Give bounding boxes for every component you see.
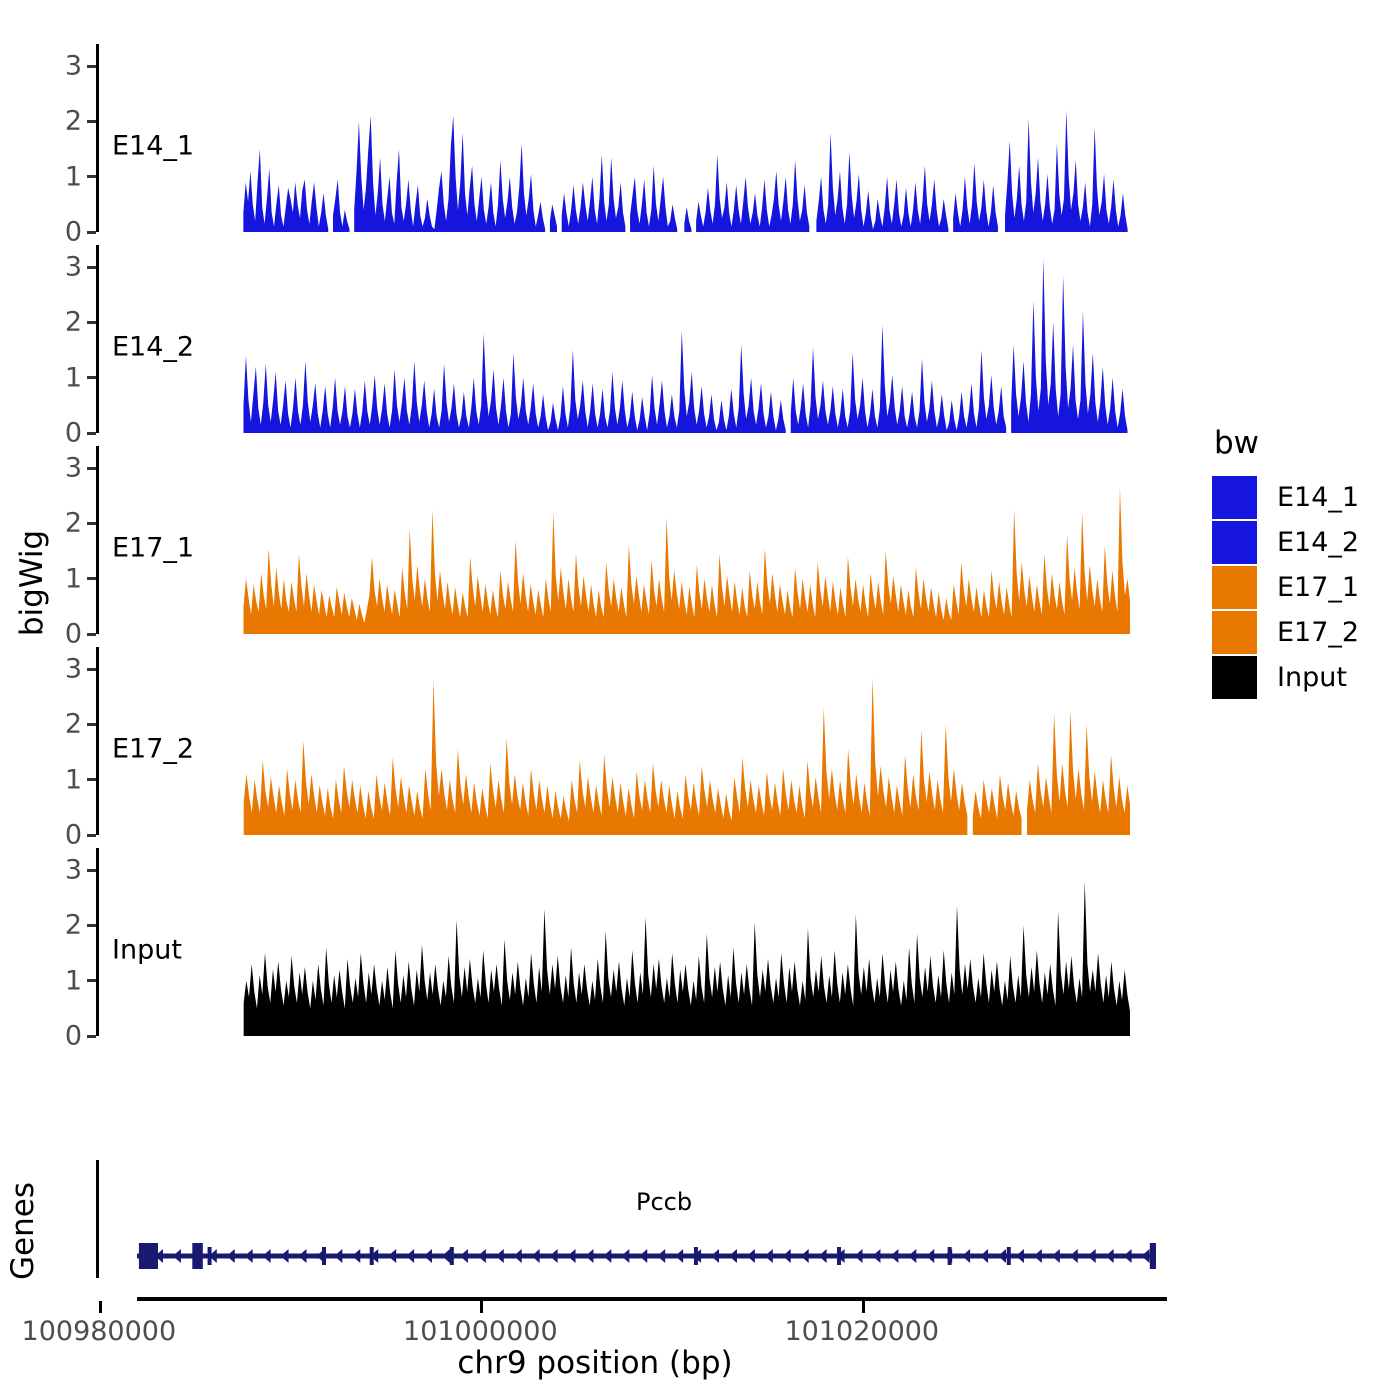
y-tick-label-e17_1-0: 0 [65,621,82,648]
y-tick-e14_1-0 [87,231,96,234]
y-tick-label-e17_2-2: 2 [65,711,82,738]
signal-area-e14_2[interactable] [99,245,1130,433]
gene-exon-block [694,1247,698,1265]
y-tick-label-e17_2-3: 3 [65,656,82,683]
gene-exon-block [192,1243,202,1269]
gene-strand-arrow-icon [1141,1249,1149,1263]
gene-strand-arrow-icon [298,1249,306,1263]
gene-strand-arrow-icon [1088,1249,1096,1263]
y-tick-label-input-1: 1 [65,967,82,994]
gene-strand-arrow-icon [227,1249,235,1263]
y-tick-input-3 [87,869,96,872]
gene-strand-arrow-icon [675,1249,683,1263]
y-tick-e17_2-1 [87,778,96,781]
y-tick-label-e17_1-2: 2 [65,510,82,537]
gene-strand-arrow-icon [890,1249,898,1263]
track-panel-input: 0123Input [96,848,1127,1036]
gene-strand-arrow-icon [442,1249,450,1263]
gene-strand-arrow-icon [334,1249,342,1263]
x-axis-title: chr9 position (bp) [0,1345,1190,1381]
gene-strand-arrow-icon [962,1249,970,1263]
legend-label-input: Input [1277,662,1347,693]
legend: bw E14_1E14_2E17_1E17_2Input [1212,425,1392,700]
y-tick-label-e14_1-0: 0 [65,219,82,246]
gene-strand-arrow-icon [281,1249,289,1263]
x-tick-101000000 [480,1301,483,1313]
y-tick-label-e14_2-0: 0 [65,420,82,447]
signal-path-e14_2 [243,259,1127,433]
y-tick-label-e14_2-2: 2 [65,309,82,336]
x-tick-label-101020000: 101020000 [785,1316,940,1347]
y-axis-title-bigwig: bigWig [14,513,50,653]
y-tick-e17_2-3 [87,668,96,671]
gene-strand-arrow-icon [872,1249,880,1263]
y-tick-input-1 [87,979,96,982]
y-tick-input-0 [87,1035,96,1038]
y-tick-label-e14_2-1: 1 [65,364,82,391]
y-tick-e14_1-3 [87,65,96,68]
legend-label-e17_1: E17_1 [1277,572,1359,603]
y-tick-e17_1-0 [87,633,96,636]
legend-swatch-input [1212,656,1257,699]
gene-strand-arrow-icon [1070,1249,1078,1263]
gene-strand-arrow-icon [603,1249,611,1263]
gene-exon-block [322,1247,326,1265]
gene-strand-arrow-icon [550,1249,558,1263]
gene-strand-arrow-icon [424,1249,432,1263]
gene-strand-arrow-icon [1106,1249,1114,1263]
gene-strand-arrow-icon [173,1249,181,1263]
signal-path-e17_2 [244,677,1130,835]
y-tick-e17_1-1 [87,577,96,580]
gene-strand-arrow-icon [621,1249,629,1263]
track-panel-e14_2: 0123E14_2 [96,245,1127,433]
gene-strand-arrow-icon [388,1249,396,1263]
gene-exon-block [208,1247,212,1265]
gene-strand-arrow-icon [657,1249,665,1263]
legend-item-e14_2[interactable]: E14_2 [1212,520,1392,565]
y-tick-e14_1-1 [87,175,96,178]
y-tick-e14_2-3 [87,266,96,269]
track-panel-e17_2: 0123E17_2 [96,647,1127,835]
gene-strand-arrow-icon [585,1249,593,1263]
y-tick-e14_2-0 [87,432,96,435]
gene-strand-arrow-icon [801,1249,809,1263]
legend-swatch-e17_2 [1212,611,1257,654]
legend-label-e14_2: E14_2 [1277,527,1359,558]
legend-item-e14_1[interactable]: E14_1 [1212,475,1392,520]
signal-area-e14_1[interactable] [99,44,1130,232]
legend-swatch-e14_1 [1212,476,1257,519]
legend-label-e14_1: E14_1 [1277,482,1359,513]
y-tick-label-input-3: 3 [65,857,82,884]
y-tick-label-e14_2-3: 3 [65,254,82,281]
signal-path-e14_1 [243,110,1127,232]
gene-exon-block [139,1243,158,1269]
gene-exon-block [370,1247,374,1265]
signal-area-input[interactable] [99,848,1130,1036]
signal-area-e17_1[interactable] [99,446,1130,634]
gene-strand-arrow-icon [908,1249,916,1263]
x-tick-label-100980000: 100980000 [22,1316,177,1347]
signal-path-input [244,881,1130,1036]
gene-strand-arrow-icon [855,1249,863,1263]
bigwig-genome-browser-figure: bigWig Genes 0123E14_10123E14_20123E17_1… [0,0,1400,1400]
gene-strand-arrow-icon [478,1249,486,1263]
signal-path-e17_1 [244,487,1130,634]
gene-name-label: Pccb [636,1188,692,1216]
gene-strand-arrow-icon [980,1249,988,1263]
x-axis-line [137,1297,1167,1301]
legend-item-e17_2[interactable]: E17_2 [1212,610,1392,655]
gene-exon-block [948,1247,952,1265]
track-panel-e17_1: 0123E17_1 [96,446,1127,634]
legend-items: E14_1E14_2E17_1E17_2Input [1212,475,1392,700]
gene-strand-arrow-icon [639,1249,647,1263]
gene-strand-arrow-icon [568,1249,576,1263]
y-tick-e17_2-0 [87,834,96,837]
gene-model-graphic[interactable] [96,1160,1156,1280]
gene-track-panel: Pccb [96,1160,1156,1290]
legend-label-e17_2: E17_2 [1277,617,1359,648]
gene-strand-arrow-icon [496,1249,504,1263]
gene-strand-arrow-icon [460,1249,468,1263]
y-axis-title-genes: Genes [5,1156,41,1306]
y-tick-label-e17_2-0: 0 [65,822,82,849]
gene-exon-block [1150,1243,1156,1269]
y-tick-label-e17_1-1: 1 [65,565,82,592]
gene-strand-arrow-icon [819,1249,827,1263]
legend-item-e17_1[interactable]: E17_1 [1212,565,1392,610]
gene-strand-arrow-icon [514,1249,522,1263]
x-tick-101020000 [862,1301,865,1313]
gene-exon-block [1007,1247,1011,1265]
y-tick-label-e14_1-2: 2 [65,108,82,135]
y-tick-label-e14_1-3: 3 [65,53,82,80]
gene-strand-arrow-icon [729,1249,737,1263]
legend-title: bw [1214,425,1392,461]
gene-strand-arrow-icon [747,1249,755,1263]
y-tick-e14_1-2 [87,120,96,123]
gene-strand-arrow-icon [711,1249,719,1263]
y-tick-e14_2-2 [87,321,96,324]
signal-area-e17_2[interactable] [99,647,1130,835]
y-tick-label-e17_1-3: 3 [65,455,82,482]
y-tick-label-e14_1-1: 1 [65,163,82,190]
gene-strand-arrow-icon [532,1249,540,1263]
gene-strand-arrow-icon [1124,1249,1132,1263]
gene-strand-arrow-icon [926,1249,934,1263]
gene-strand-arrow-icon [998,1249,1006,1263]
gene-strand-arrow-icon [263,1249,271,1263]
gene-track-axis-line [96,1160,99,1278]
gene-exon-block [837,1247,841,1265]
y-tick-e17_1-3 [87,467,96,470]
gene-strand-arrow-icon [1052,1249,1060,1263]
gene-strand-arrow-icon [1034,1249,1042,1263]
y-tick-e17_2-2 [87,723,96,726]
y-tick-e14_2-1 [87,376,96,379]
gene-strand-arrow-icon [245,1249,253,1263]
gene-strand-arrow-icon [783,1249,791,1263]
legend-item-input[interactable]: Input [1212,655,1392,700]
gene-strand-arrow-icon [1016,1249,1024,1263]
y-tick-label-input-2: 2 [65,912,82,939]
y-tick-input-2 [87,924,96,927]
legend-swatch-e14_2 [1212,521,1257,564]
gene-strand-arrow-icon [765,1249,773,1263]
gene-strand-arrow-icon [352,1249,360,1263]
y-tick-label-e17_2-1: 1 [65,766,82,793]
legend-swatch-e17_1 [1212,566,1257,609]
gene-exon-block [450,1247,454,1265]
track-panel-e14_1: 0123E14_1 [96,44,1127,232]
gene-strand-arrow-icon [406,1249,414,1263]
x-tick-label-101000000: 101000000 [403,1316,558,1347]
y-tick-label-input-0: 0 [65,1023,82,1050]
x-tick-100980000 [99,1301,102,1313]
y-tick-e17_1-2 [87,522,96,525]
